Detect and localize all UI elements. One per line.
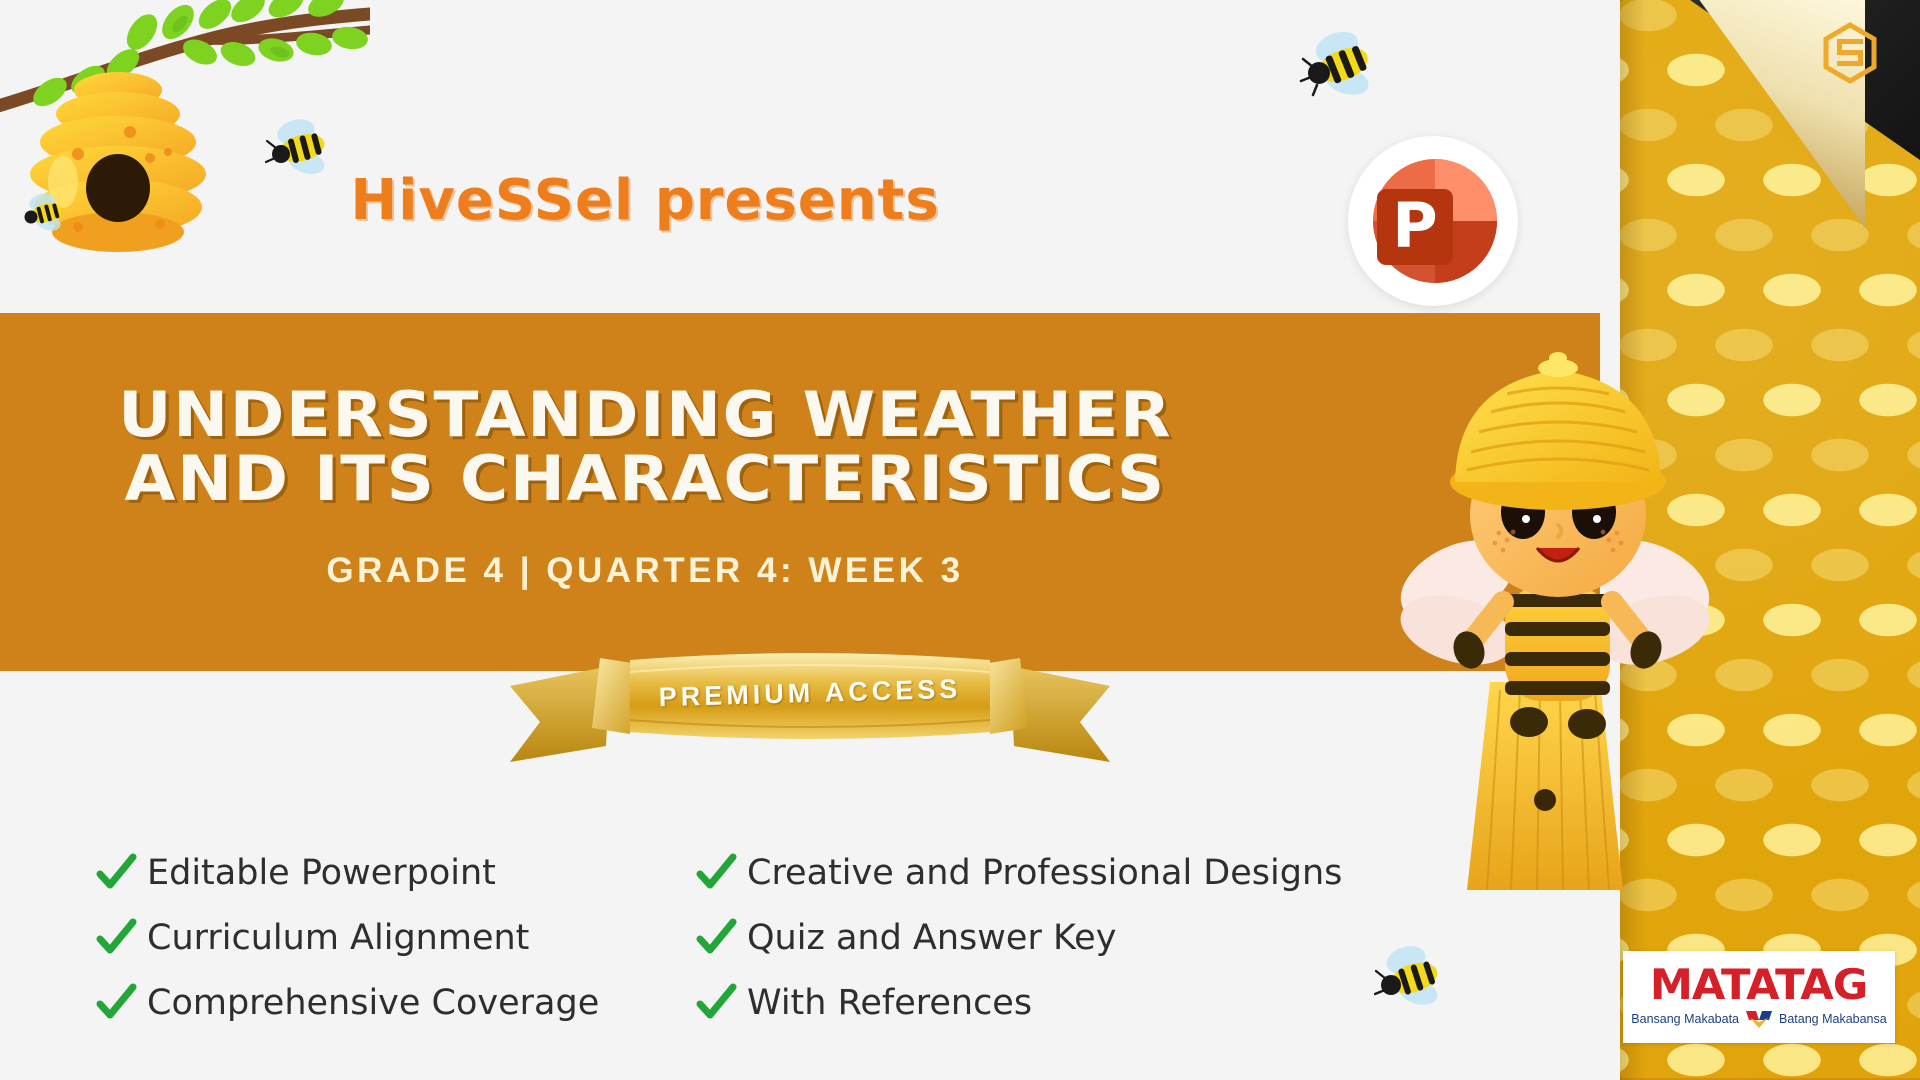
feature-item: Comprehensive Coverage: [95, 982, 695, 1024]
bee-icon-5: [18, 188, 74, 238]
feature-label: With References: [747, 983, 1032, 1023]
check-icon: [695, 852, 737, 894]
grade-quarter-subtitle: GRADE 4 | QUARTER 4: WEEK 3: [326, 551, 963, 591]
feature-label: Comprehensive Coverage: [147, 983, 599, 1023]
matatag-tagline-left: Bansang Makabata: [1631, 1012, 1739, 1026]
check-icon: [95, 917, 137, 959]
feature-label: Quiz and Answer Key: [747, 918, 1116, 958]
feature-item: With References: [695, 982, 1525, 1024]
feature-item: Creative and Professional Designs: [695, 852, 1525, 894]
bee-icon-1: [1295, 25, 1385, 105]
matatag-tagline: Bansang Makabata Batang Makabansa: [1631, 1008, 1886, 1030]
feature-item: Editable Powerpoint: [95, 852, 695, 894]
matatag-tagline-right: Batang Makabansa: [1779, 1012, 1887, 1026]
powerpoint-badge[interactable]: P: [1348, 136, 1518, 306]
page-title: UNDERSTANDING WEATHER AND ITS CHARACTERI…: [118, 383, 1172, 511]
powerpoint-icon: P: [1363, 151, 1503, 291]
feature-label: Curriculum Alignment: [147, 918, 529, 958]
bee-mascot-icon: [1395, 330, 1725, 890]
check-icon: [95, 982, 137, 1024]
bee-icon-2: [262, 112, 342, 184]
feature-label: Creative and Professional Designs: [747, 853, 1342, 893]
presenter-text: HiveSSel presents: [0, 168, 1290, 233]
premium-access-label: PREMIUM ACCESS: [629, 659, 990, 727]
check-icon: [695, 982, 737, 1024]
matatag-logo: MATATAG Bansang Makabata Batang Makabans…: [1623, 951, 1895, 1043]
feature-item: Quiz and Answer Key: [695, 917, 1525, 959]
premium-ribbon: PREMIUM ACCESS: [510, 650, 1110, 770]
title-line-1: UNDERSTANDING WEATHER: [118, 383, 1172, 447]
feature-label: Editable Powerpoint: [147, 853, 496, 893]
slide-canvas: P HiveSSel presents: [0, 0, 1920, 1080]
hivessel-hex-logo-icon: [1822, 22, 1878, 84]
feature-list: Editable Powerpoint Creative and Profess…: [95, 852, 1525, 1024]
feature-item: Curriculum Alignment: [95, 917, 695, 959]
powerpoint-letter: P: [1392, 189, 1437, 262]
matatag-wordmark: MATATAG: [1650, 964, 1867, 1006]
handshake-icon: [1744, 1008, 1774, 1030]
title-line-2: AND ITS CHARACTERISTICS: [118, 447, 1172, 511]
check-icon: [695, 917, 737, 959]
check-icon: [95, 852, 137, 894]
title-band: UNDERSTANDING WEATHER AND ITS CHARACTERI…: [0, 313, 1600, 671]
